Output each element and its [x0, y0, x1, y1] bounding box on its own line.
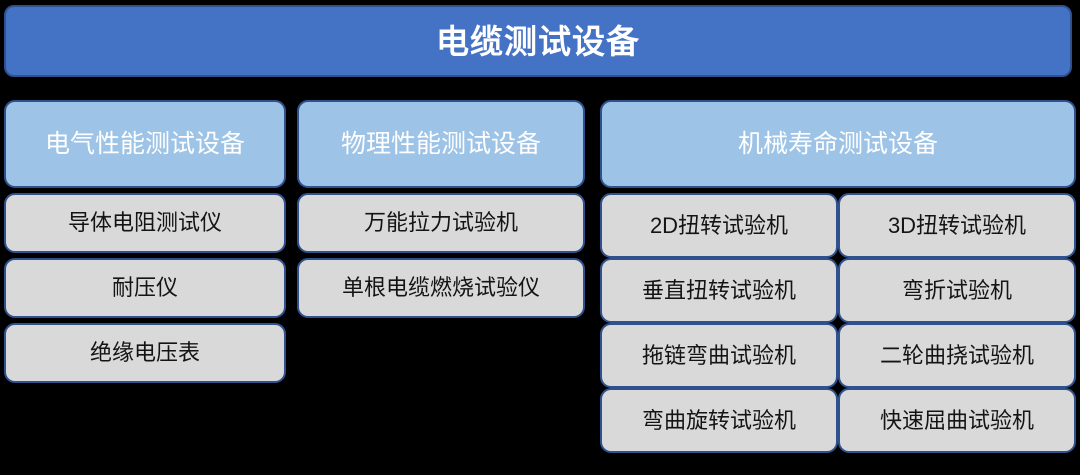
diagram-title: 电缆测试设备: [436, 25, 640, 58]
group-column-electrical: 电气性能测试设备 导体电阻测试仪 耐压仪 绝缘电压表: [4, 100, 286, 388]
item-label: 二轮曲挠试验机: [880, 345, 1034, 367]
item-label: 弯折试验机: [902, 280, 1012, 302]
item-label: 3D扭转试验机: [888, 215, 1026, 237]
item-label: 拖链弯曲试验机: [642, 345, 796, 367]
item-cell[interactable]: 弯曲旋转试验机: [600, 388, 838, 453]
item-label: 单根电缆燃烧试验仪: [342, 277, 540, 299]
item-cell[interactable]: 弯折试验机: [838, 258, 1076, 323]
item-cell[interactable]: 万能拉力试验机: [297, 193, 585, 253]
item-cell[interactable]: 快速屈曲试验机: [838, 388, 1076, 453]
group-header-label: 电气性能测试设备: [45, 132, 245, 157]
item-label: 快速屈曲试验机: [880, 410, 1034, 432]
diagram-columns: 电气性能测试设备 导体电阻测试仪 耐压仪 绝缘电压表 物理性能测试设备 万能拉力…: [0, 100, 1080, 475]
item-label: 绝缘电压表: [90, 342, 200, 364]
item-cell[interactable]: 耐压仪: [4, 258, 286, 318]
item-label: 耐压仪: [112, 277, 178, 299]
item-cell[interactable]: 单根电缆燃烧试验仪: [297, 258, 585, 318]
item-label: 2D扭转试验机: [650, 215, 788, 237]
item-cell[interactable]: 导体电阻测试仪: [4, 193, 286, 253]
group-header-label: 物理性能测试设备: [341, 132, 541, 157]
item-cell[interactable]: 拖链弯曲试验机: [600, 323, 838, 388]
group-header-electrical[interactable]: 电气性能测试设备: [4, 100, 286, 188]
item-cell[interactable]: 绝缘电压表: [4, 323, 286, 383]
item-label: 弯曲旋转试验机: [642, 410, 796, 432]
item-cell[interactable]: 2D扭转试验机: [600, 193, 838, 258]
group-column-mechanical: 机械寿命测试设备 2D扭转试验机 3D扭转试验机 垂直扭转试验机 弯折试验机 拖…: [600, 100, 1076, 453]
diagram-canvas: 电缆测试设备 电气性能测试设备 导体电阻测试仪 耐压仪 绝缘电压表 物理性能测试…: [0, 0, 1080, 475]
item-label: 万能拉力试验机: [364, 212, 518, 234]
group-header-mechanical[interactable]: 机械寿命测试设备: [600, 100, 1076, 188]
item-label: 垂直扭转试验机: [642, 280, 796, 302]
group-header-label: 机械寿命测试设备: [738, 132, 938, 157]
item-cell[interactable]: 3D扭转试验机: [838, 193, 1076, 258]
item-label: 导体电阻测试仪: [68, 212, 222, 234]
group-header-physical[interactable]: 物理性能测试设备: [297, 100, 585, 188]
diagram-title-banner: 电缆测试设备: [4, 5, 1072, 77]
item-cell[interactable]: 二轮曲挠试验机: [838, 323, 1076, 388]
item-cell[interactable]: 垂直扭转试验机: [600, 258, 838, 323]
group-column-physical: 物理性能测试设备 万能拉力试验机 单根电缆燃烧试验仪: [297, 100, 585, 323]
mechanical-item-grid: 2D扭转试验机 3D扭转试验机 垂直扭转试验机 弯折试验机 拖链弯曲试验机 二轮…: [600, 193, 1076, 453]
